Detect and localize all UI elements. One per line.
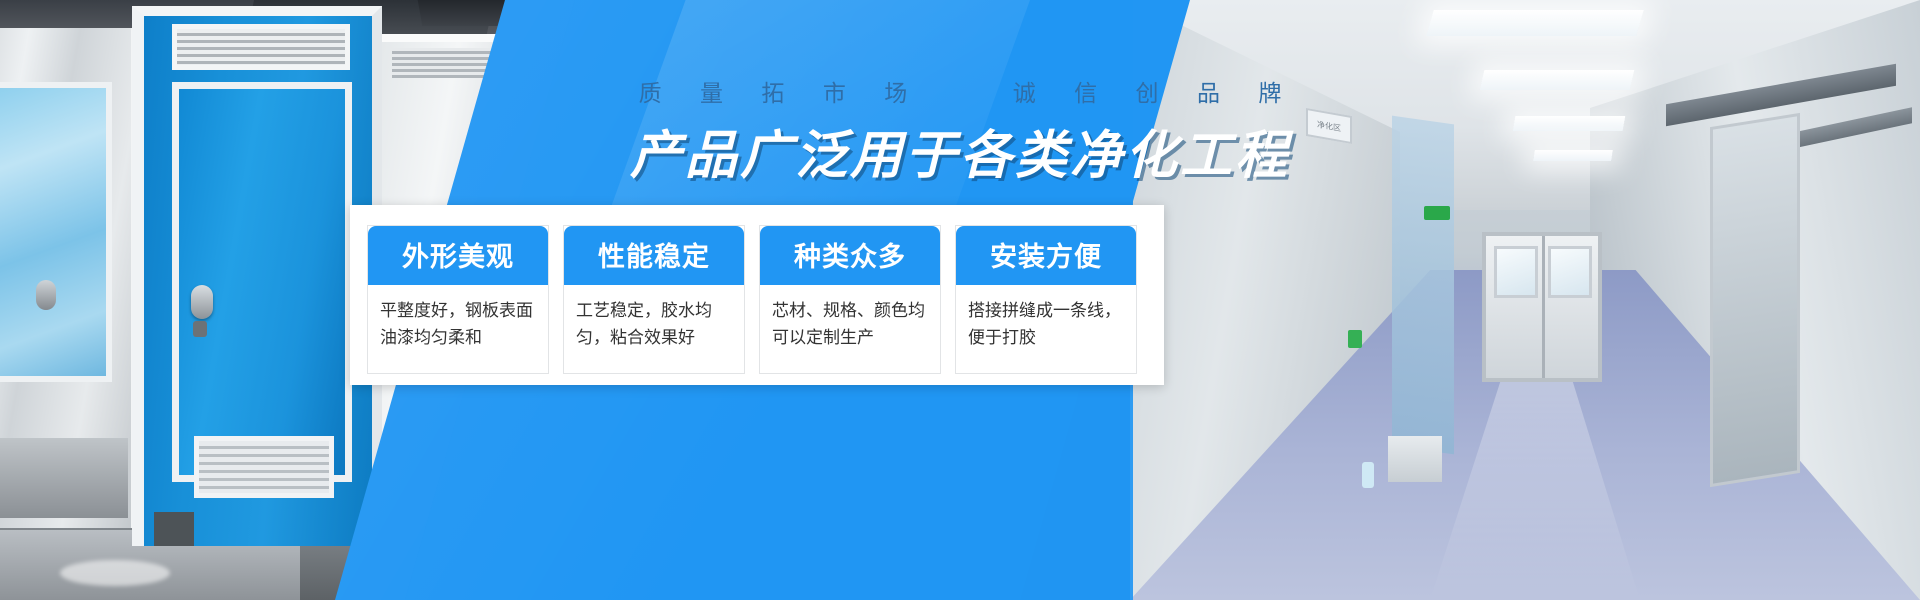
feature-card-text: 工艺稳定，胶水均匀，粘合效果好 bbox=[564, 285, 744, 373]
corridor-double-door bbox=[1482, 232, 1602, 382]
banner-headline: 产品广泛用于各类净化工程 bbox=[0, 113, 1920, 188]
ceiling-light-1 bbox=[1426, 10, 1643, 36]
corridor-cabinet bbox=[1388, 436, 1442, 482]
door-lock bbox=[193, 321, 207, 337]
promo-banner: 净化区 质 量 拓 市 场 诚 信 创 品 牌 产品广泛用于各类净化工程 外形美… bbox=[0, 0, 1920, 600]
feature-card-panel: 外形美观 平整度好，钢板表面油漆均匀柔和 性能稳定 工艺稳定，胶水均匀，粘合效果… bbox=[350, 205, 1164, 385]
ground-puddle bbox=[60, 560, 170, 586]
sanitizer-bottle bbox=[1362, 462, 1374, 488]
door-window-left bbox=[1494, 246, 1538, 298]
banner-tagline: 质 量 拓 市 场 诚 信 创 品 牌 bbox=[0, 74, 1920, 108]
exit-sign-icon bbox=[1424, 206, 1450, 220]
feature-card-title: 性能稳定 bbox=[564, 226, 744, 285]
feature-card-list: 外形美观 平整度好，钢板表面油漆均匀柔和 性能稳定 工艺稳定，胶水均匀，粘合效果… bbox=[350, 205, 1164, 394]
feature-card[interactable]: 安装方便 搭接拼缝成一条线，便于打胶 bbox=[955, 225, 1137, 374]
feature-card-text: 平整度好，钢板表面油漆均匀柔和 bbox=[368, 285, 548, 373]
door-window-right bbox=[1548, 246, 1592, 298]
feature-card-title: 种类众多 bbox=[760, 226, 940, 285]
feature-card[interactable]: 种类众多 芯材、规格、颜色均可以定制生产 bbox=[759, 225, 941, 374]
feature-card-title: 安装方便 bbox=[956, 226, 1136, 285]
cabin-bottom-vent bbox=[194, 436, 334, 498]
feature-card-title: 外形美观 bbox=[368, 226, 548, 285]
door-handle bbox=[191, 285, 213, 319]
feature-card-text: 搭接拼缝成一条线，便于打胶 bbox=[956, 285, 1136, 373]
cabin-left-base bbox=[0, 438, 128, 518]
cabin-top-vent bbox=[172, 24, 350, 70]
feature-card-text: 芯材、规格、颜色均可以定制生产 bbox=[760, 285, 940, 373]
feature-card[interactable]: 外形美观 平整度好，钢板表面油漆均匀柔和 bbox=[367, 225, 549, 374]
emergency-marker-icon bbox=[1348, 330, 1362, 348]
feature-card[interactable]: 性能稳定 工艺稳定，胶水均匀，粘合效果好 bbox=[563, 225, 745, 374]
cabin-left-handle bbox=[36, 280, 56, 310]
cabin-foot bbox=[154, 512, 194, 546]
